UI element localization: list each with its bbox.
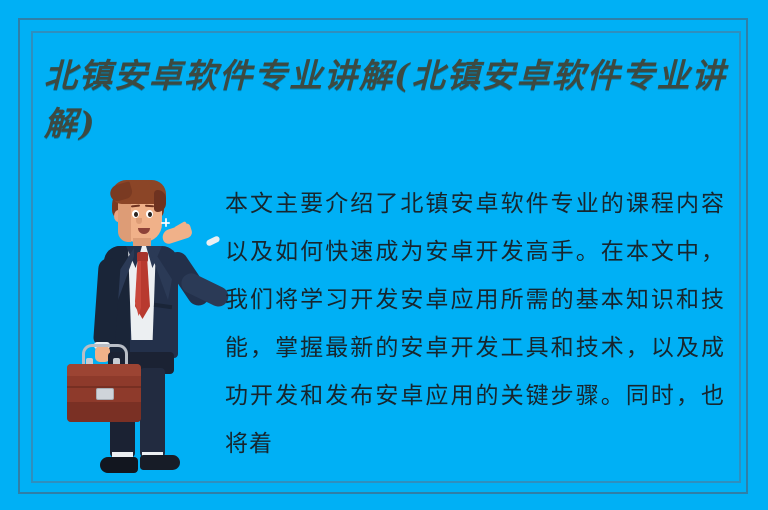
hair-side bbox=[154, 190, 166, 212]
pupil-left bbox=[134, 212, 138, 217]
briefcase-lock-icon bbox=[96, 388, 114, 400]
necktie-knot bbox=[137, 252, 148, 262]
shoe-right bbox=[140, 455, 180, 470]
shoe-left bbox=[100, 457, 138, 473]
poster-title: 北镇安卓软件专业讲解(北镇安卓软件专业讲解) bbox=[44, 52, 744, 148]
leg-right bbox=[140, 368, 165, 458]
pupil-right bbox=[148, 212, 152, 217]
poster-canvas: 北镇安卓软件专业讲解(北镇安卓软件专业讲解) bbox=[0, 0, 768, 510]
nose bbox=[136, 218, 142, 224]
cuff-right bbox=[205, 235, 220, 247]
sparkle-icon bbox=[161, 222, 170, 224]
businessman-illustration bbox=[66, 176, 226, 482]
briefcase-top bbox=[67, 364, 141, 376]
arm-right-forearm bbox=[178, 270, 232, 310]
poster-body-text: 本文主要介绍了北镇安卓软件专业的课程内容以及如何快速成为安卓开发高手。在本文中，… bbox=[225, 180, 725, 468]
briefcase-shadow bbox=[67, 402, 141, 422]
